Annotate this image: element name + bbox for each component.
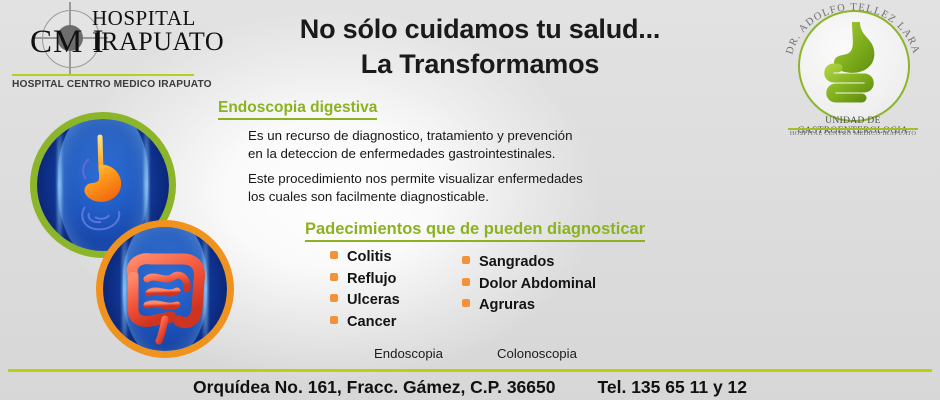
cmi-word-hospital: HOSPITAL <box>92 9 224 29</box>
padecimientos-list-right: Sangrados Dolor Abdominal Agruras <box>462 254 596 319</box>
headline: No sólo cuidamos tu salud... La Transfor… <box>230 12 730 81</box>
footer-contact-bar: Orquídea No. 161, Fracc. Gámez, C.P. 366… <box>0 374 940 400</box>
logo-arc-text: DR. ADOLFO TELLEZ LARA <box>778 0 928 64</box>
list-item: Ulceras <box>330 292 400 308</box>
bullet-icon <box>462 256 470 264</box>
list-item-label: Dolor Abdominal <box>479 276 596 292</box>
list-item: Colitis <box>330 249 400 265</box>
caption-colonoscopia: Colonoscopia <box>497 346 577 361</box>
cmi-logo-divider <box>12 74 194 76</box>
bullet-icon <box>462 278 470 286</box>
list-item-label: Ulceras <box>347 292 400 308</box>
bullet-icon <box>330 273 338 281</box>
list-item: Dolor Abdominal <box>462 276 596 292</box>
padecimientos-list-left: Colitis Reflujo Ulceras Cancer <box>330 249 400 335</box>
list-item-label: Reflujo <box>347 271 396 287</box>
endoscopia-paragraph-1: Es un recurso de diagnostico, tratamient… <box>248 127 572 162</box>
endoscopia-section-title: Endoscopia digestiva <box>218 99 377 120</box>
hospital-cmi-logo: CM I HOSPITAL IRAPUATO HOSPITAL CENTRO M… <box>8 4 204 96</box>
list-item: Reflujo <box>330 271 400 287</box>
list-item: Cancer <box>330 314 400 330</box>
list-item-label: Agruras <box>479 297 535 313</box>
colonoscopia-illustration <box>96 220 234 358</box>
cmi-initials: CM I <box>30 24 105 61</box>
list-item: Agruras <box>462 297 596 313</box>
list-item: Sangrados <box>462 254 596 270</box>
svg-text:DR. ADOLFO TELLEZ LARA: DR. ADOLFO TELLEZ LARA <box>784 2 921 56</box>
footer-phone: Tel. 135 65 11 y 12 <box>597 377 747 398</box>
logo-hospital-name: HOSPITAL CENTRO MEDICO IRAPUATO <box>772 130 934 137</box>
footer-divider <box>8 369 932 372</box>
headline-line-2: La Transformamos <box>230 47 730 82</box>
bullet-icon <box>330 316 338 324</box>
padecimientos-section-title: Padecimientos que de pueden diagnosticar <box>305 220 645 242</box>
bullet-icon <box>330 294 338 302</box>
cmi-logo-tagline: HOSPITAL CENTRO MEDICO IRAPUATO <box>12 79 212 90</box>
colon-anatomy-icon <box>103 227 227 351</box>
cmi-wordmark: HOSPITAL IRAPUATO <box>92 9 224 54</box>
footer-address: Orquídea No. 161, Fracc. Gámez, C.P. 366… <box>193 377 556 398</box>
cmi-word-irapuato: IRAPUATO <box>92 30 224 54</box>
advertisement-banner: CM I HOSPITAL IRAPUATO HOSPITAL CENTRO M… <box>0 0 940 400</box>
endoscopia-paragraph-2: Este procedimiento nos permite visualiza… <box>248 170 583 205</box>
gastroenterology-logo: DR. ADOLFO TELLEZ LARA UNIDAD DE GASTROE… <box>772 2 934 144</box>
logo-doctor-name: DR. ADOLFO TELLEZ LARA <box>784 2 921 56</box>
bullet-icon <box>462 299 470 307</box>
list-item-label: Cancer <box>347 314 396 330</box>
cmi-logomark: CM I HOSPITAL IRAPUATO <box>30 8 210 66</box>
list-item-label: Sangrados <box>479 254 554 270</box>
list-item-label: Colitis <box>347 249 392 265</box>
headline-line-1: No sólo cuidamos tu salud... <box>300 14 660 44</box>
bullet-icon <box>330 251 338 259</box>
caption-endoscopia: Endoscopia <box>374 346 443 361</box>
